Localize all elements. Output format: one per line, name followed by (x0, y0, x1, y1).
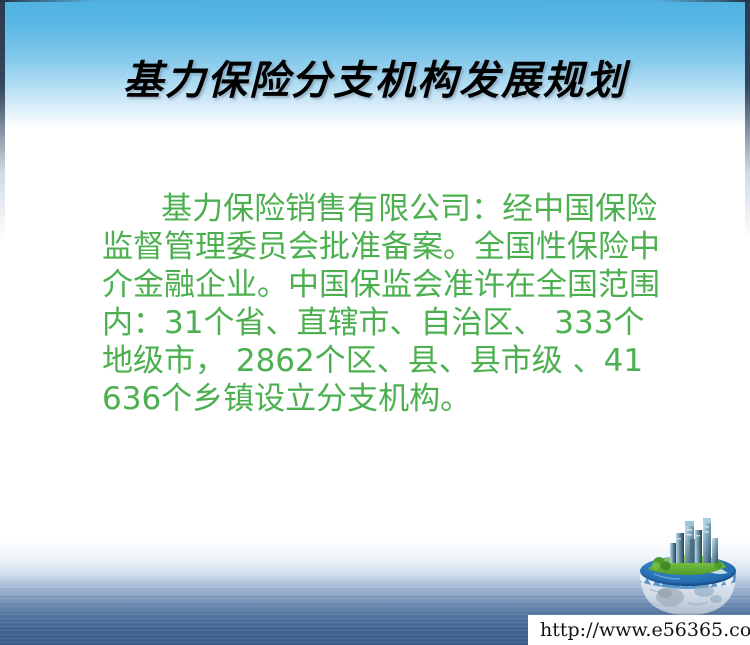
watermark-url: http://www.e56365.com (540, 619, 750, 641)
earth-city-globe-icon (632, 511, 744, 623)
right-edge-rail (745, 0, 750, 240)
left-edge-rail (0, 0, 5, 240)
slide-title: 基力保险分支机构发展规划 (0, 57, 750, 105)
slide-canvas: 基力保险分支机构发展规划 基力保险销售有限公司：经中国保险监督管理委员会批准备案… (0, 0, 750, 645)
top-border-line (0, 0, 750, 2)
watermark-bar: http://www.e56365.com (528, 615, 750, 645)
slide-body-text: 基力保险销售有限公司：经中国保险监督管理委员会批准备案。全国性保险中介金融企业。… (102, 190, 662, 418)
